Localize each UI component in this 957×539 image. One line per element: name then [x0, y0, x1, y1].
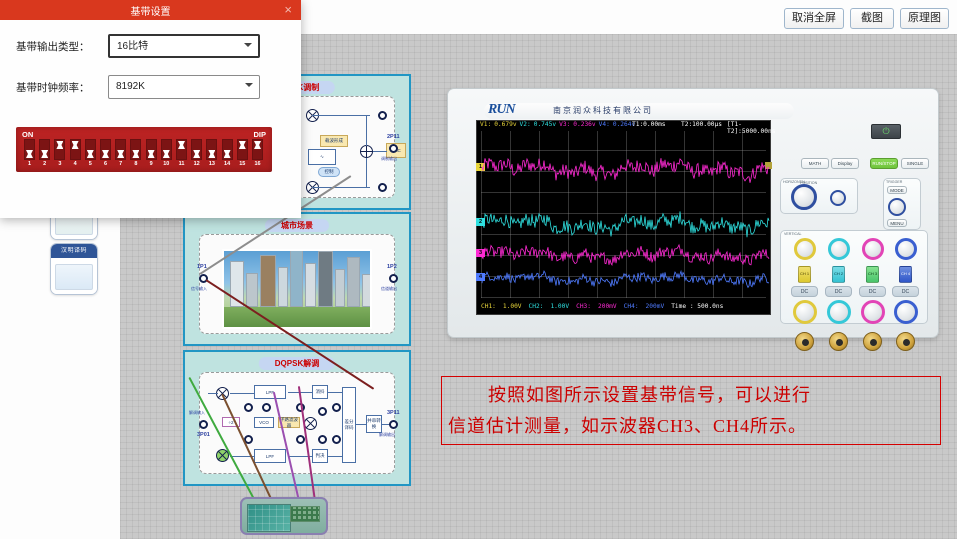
scope-waveforms	[477, 121, 772, 316]
mod-out-test-a[interactable]	[378, 111, 387, 120]
dem-input-port-label: 3P01	[197, 432, 210, 438]
dip-switch-bank[interactable]: ON DIP 12345678910111213141516	[16, 127, 272, 172]
dip-switch-number: 15	[237, 161, 248, 167]
ch4-bnc-connector[interactable]	[896, 332, 915, 351]
dem-input-port[interactable]	[199, 420, 208, 429]
ch4-label: CH4:	[624, 303, 639, 310]
trigger-menu-button[interactable]: MENU	[887, 219, 907, 227]
horizontal-position-knob[interactable]	[791, 184, 817, 210]
dialog-title: 基带设置	[131, 3, 171, 18]
app-stage: 取消全屏 截图 原理图 汉明编码 汉明译码 DQPSK调制 ∷ ∷	[0, 0, 957, 539]
wire	[312, 115, 370, 116]
sidebar-item-label: 汉明译码	[51, 244, 97, 258]
oscilloscope[interactable]: RUN 南京润众科技有限公司 V1:0.679vV2:0.745vV3:0.23…	[447, 88, 939, 338]
dip-switch-8[interactable]	[130, 139, 141, 160]
thumb-graphic	[55, 264, 93, 290]
dem-block-parallel-serial: 并串转换	[366, 415, 382, 433]
ch2-button-label: CH 2	[834, 272, 843, 276]
dip-switch-number: 3	[54, 161, 65, 167]
scope-channel-status-bar: CH1:1.00VCH2:1.00VCH3:200mVCH4:200mVTime…	[477, 300, 770, 314]
dem-tp-5[interactable]	[332, 403, 341, 412]
close-icon[interactable]: ×	[284, 2, 292, 18]
city-photo	[222, 249, 372, 329]
chevron-down-icon	[244, 43, 252, 47]
annotation-line-2: 信道估计测量，如示波器CH3、CH4所示。	[448, 411, 934, 442]
dip-on-label: ON	[22, 130, 33, 139]
dip-switch-number: 5	[85, 161, 96, 167]
annotation-line-1: 按照如图所示设置基带信号，可以进行	[448, 380, 934, 411]
dip-switch-lever	[117, 150, 124, 158]
dip-switch-lever	[72, 141, 79, 149]
dem-tp-8[interactable]	[332, 435, 341, 444]
dip-switch-5[interactable]	[85, 139, 96, 160]
panel-city-inner	[199, 234, 395, 334]
dip-switch-1[interactable]	[24, 139, 35, 160]
dip-switch-number: 2	[39, 161, 50, 167]
timebase: Time : 500.0ns	[671, 303, 723, 310]
dem-output-port[interactable]	[389, 420, 398, 429]
scope-screen[interactable]: V1:0.679vV2:0.745vV3:0.236vV4:0.264v T1:…	[476, 120, 771, 315]
mod-output-port[interactable]	[389, 144, 398, 153]
ch3-coupling-button[interactable]: DC	[859, 286, 886, 297]
ch1-bnc-connector[interactable]	[795, 332, 814, 351]
panel-schematic: LPF LPF VCO 环路滤波器 ÷2 消抖 判决 差分译码 并串转换	[199, 372, 395, 474]
ch3-scale-knob[interactable]	[861, 300, 885, 324]
dem-tp-7[interactable]	[318, 435, 327, 444]
ch4-scale: 200mV	[646, 303, 665, 310]
dip-switch-number: 11	[176, 161, 187, 167]
dip-switch-number: 7	[115, 161, 126, 167]
dip-switch-lever	[208, 150, 215, 158]
dem-tp-6[interactable]	[296, 435, 305, 444]
scope-control-panel: ⏻ MATH Display RUN/STOP SINGLE HORIZONTA…	[778, 120, 933, 330]
dem-output-port-label: 3P11	[387, 410, 400, 416]
ch3-button-label: CH 3	[868, 272, 877, 276]
scope-instrument-widget[interactable]	[240, 497, 328, 535]
dem-tp-1[interactable]	[244, 403, 253, 412]
baseband-output-type-select[interactable]: 16比特	[108, 34, 260, 58]
trigger-level-knob[interactable]	[888, 198, 906, 216]
dip-switch-4[interactable]	[70, 139, 81, 160]
wire	[366, 115, 367, 146]
panel-title: DQPSK解调	[259, 357, 335, 370]
ch1-scale-knob[interactable]	[793, 300, 817, 324]
screenshot-button[interactable]: 截图	[850, 8, 894, 29]
brand-logo: RUN	[488, 102, 515, 118]
dem-phase-detector	[304, 417, 317, 430]
math-button[interactable]: MATH	[801, 158, 829, 169]
baseband-output-type-label: 基带输出类型：	[16, 39, 108, 54]
dialog-body: 基带输出类型： 16比特 基带时钟频率： 8192K	[0, 20, 301, 99]
ch2-label: CH2:	[529, 303, 544, 310]
mod-output-port-label: 2P11	[387, 134, 400, 140]
wire	[312, 187, 370, 188]
dem-block-clock-recovery: 消抖	[312, 385, 328, 399]
dip-switch-lever	[163, 150, 170, 158]
single-button[interactable]: SINGLE	[901, 158, 929, 169]
dip-switch-7[interactable]	[115, 139, 126, 160]
dip-switch-lever	[239, 141, 246, 149]
mod-block-carrier: 载波形成	[320, 135, 348, 147]
ch1-coupling-button[interactable]: DC	[791, 286, 818, 297]
scope-widget-screen	[247, 504, 291, 532]
display-button[interactable]: Display	[831, 158, 859, 169]
scope-widget-terminal-grid	[290, 506, 320, 522]
dip-label: DIP	[253, 130, 266, 139]
dip-switch-lever	[224, 150, 231, 158]
dip-switch-number: 1	[24, 161, 35, 167]
dip-switch-lever	[148, 150, 155, 158]
ch2-scale: 1.00V	[550, 303, 569, 310]
ch3-scale: 200mV	[598, 303, 617, 310]
dip-switch-11[interactable]	[176, 139, 187, 160]
dip-switch-13[interactable]	[206, 139, 217, 160]
ch2-scale-knob[interactable]	[827, 300, 851, 324]
ch2-position-knob[interactable]	[828, 238, 850, 260]
ch3-bnc-connector[interactable]	[863, 332, 882, 351]
dem-block-decision: 判决	[312, 449, 328, 463]
ch1-label: CH1:	[481, 303, 496, 310]
mod-block-ctrl: 控制	[318, 167, 340, 177]
dip-switch-lever	[26, 150, 33, 158]
dip-switch-number: 4	[70, 161, 81, 167]
panel-dqpsk-demodulation[interactable]: DQPSK解调 LPF LPF VCO 环路滤波器 ÷2 消抖 判决 差分译码 …	[183, 350, 411, 486]
ch1-scale: 1.00V	[503, 303, 522, 310]
dip-switch-12[interactable]	[191, 139, 202, 160]
mod-out-test-b[interactable]	[378, 183, 387, 192]
dem-block-lpf1: LPF	[254, 385, 286, 399]
panel-city-scene[interactable]: 城市场景 1P1 信号输入 1P2 信道输出	[183, 212, 411, 346]
dip-switch-6[interactable]	[100, 139, 111, 160]
dip-switch-lever	[102, 150, 109, 158]
city-output-port[interactable]	[389, 274, 398, 283]
dip-switch-number: 12	[191, 161, 202, 167]
ch4-scale-knob[interactable]	[894, 300, 918, 324]
ch3-button[interactable]: CH 3	[866, 266, 879, 283]
dip-switch-lever	[87, 150, 94, 158]
mod-output-port-sub: 调制输出	[381, 156, 397, 162]
ch1-button[interactable]: CH 1	[798, 266, 811, 283]
wire	[366, 158, 367, 188]
dip-switch-lever	[132, 150, 139, 158]
chevron-down-icon	[245, 83, 253, 87]
trigger-mode-button[interactable]: MODE	[887, 186, 907, 194]
dip-switch-number: 10	[161, 161, 172, 167]
dialog-title-bar: 基带设置 ×	[0, 0, 301, 20]
dip-switch-lever	[193, 150, 200, 158]
dem-input-port-sub: 解调输入	[189, 410, 205, 416]
ch3-label: CH3:	[576, 303, 591, 310]
dip-switch-9[interactable]	[146, 139, 157, 160]
dip-switch-3[interactable]	[54, 139, 65, 160]
exit-fullscreen-button[interactable]: 取消全屏	[784, 8, 844, 29]
dem-block-diff-decode: 差分译码	[342, 387, 356, 463]
sidebar-item-thumb	[51, 258, 97, 295]
field-row-output-type: 基带输出类型： 16比特	[16, 34, 285, 58]
trigger-label: TRIGGER	[886, 180, 902, 184]
city-output-port-sub: 信道输出	[381, 286, 397, 292]
power-button[interactable]: ⏻	[871, 124, 901, 139]
ch4-coupling-button[interactable]: DC	[892, 286, 919, 297]
run-stop-button[interactable]: RUN/STOP	[870, 158, 898, 169]
dip-switch-14[interactable]	[222, 139, 233, 160]
dip-switch-lever	[56, 141, 63, 149]
baseband-output-type-value: 16比特	[117, 41, 148, 52]
dip-switch-number: 8	[130, 161, 141, 167]
baseband-settings-dialog[interactable]: 基带设置 × 基带输出类型： 16比特 基带时钟频率： 8192K ON DIP	[0, 0, 301, 218]
dip-switch-10[interactable]	[161, 139, 172, 160]
dem-output-port-sub: 解调输出	[379, 432, 395, 438]
sidebar-item-hamming-decode[interactable]: 汉明译码	[50, 243, 98, 295]
ch2-button[interactable]: CH 2	[832, 266, 845, 283]
dip-switch-lever	[41, 150, 48, 158]
brand-name: 南京润众科技有限公司	[553, 105, 653, 116]
dip-switch-lever	[178, 141, 185, 149]
ch3-position-knob[interactable]	[862, 238, 884, 260]
dip-switch-number: 16	[252, 161, 263, 167]
dip-switch-15[interactable]	[237, 139, 248, 160]
topbar-buttons: 取消全屏 截图 原理图	[784, 8, 949, 29]
baseband-clock-rate-label: 基带时钟频率：	[16, 80, 108, 95]
dip-switch-16[interactable]	[252, 139, 263, 160]
schematic-button[interactable]: 原理图	[900, 8, 949, 29]
vertical-label: VERTICAL	[784, 232, 802, 236]
dip-switch-2[interactable]	[39, 139, 50, 160]
ch4-button-label: CH 4	[901, 272, 910, 276]
ch4-button[interactable]: CH 4	[899, 266, 912, 283]
ch2-coupling-button[interactable]: DC	[825, 286, 852, 297]
dem-block-lpf2: LPF	[254, 449, 286, 463]
ch1-button-label: CH 1	[800, 272, 809, 276]
ch4-position-knob[interactable]	[895, 238, 917, 260]
dip-switch-number: 13	[206, 161, 217, 167]
mod-block-waveform: ∿	[308, 149, 336, 165]
dip-switch-lever	[254, 141, 261, 149]
dem-block-vco: VCO	[254, 417, 274, 428]
horizontal-scale-knob[interactable]	[830, 190, 846, 206]
dem-tp-4[interactable]	[318, 407, 327, 416]
field-row-clock-rate: 基带时钟频率： 8192K	[16, 75, 285, 99]
wire	[373, 151, 387, 152]
dip-switch-number: 14	[222, 161, 233, 167]
dem-tp-2[interactable]	[262, 403, 271, 412]
baseband-clock-rate-value: 8192K	[116, 81, 145, 92]
ch2-bnc-connector[interactable]	[829, 332, 848, 351]
city-output-port-label: 1P2	[387, 264, 397, 270]
mod-adder	[360, 145, 373, 158]
baseband-clock-rate-select[interactable]: 8192K	[108, 75, 260, 99]
dip-switch-number: 6	[100, 161, 111, 167]
city-input-port-sub: 信号输入	[191, 286, 207, 292]
dip-switch-number: 9	[146, 161, 157, 167]
annotation-box: 按照如图所示设置基带信号，可以进行 信道估计测量，如示波器CH3、CH4所示。	[441, 376, 941, 445]
ch1-position-knob[interactable]	[794, 238, 816, 260]
